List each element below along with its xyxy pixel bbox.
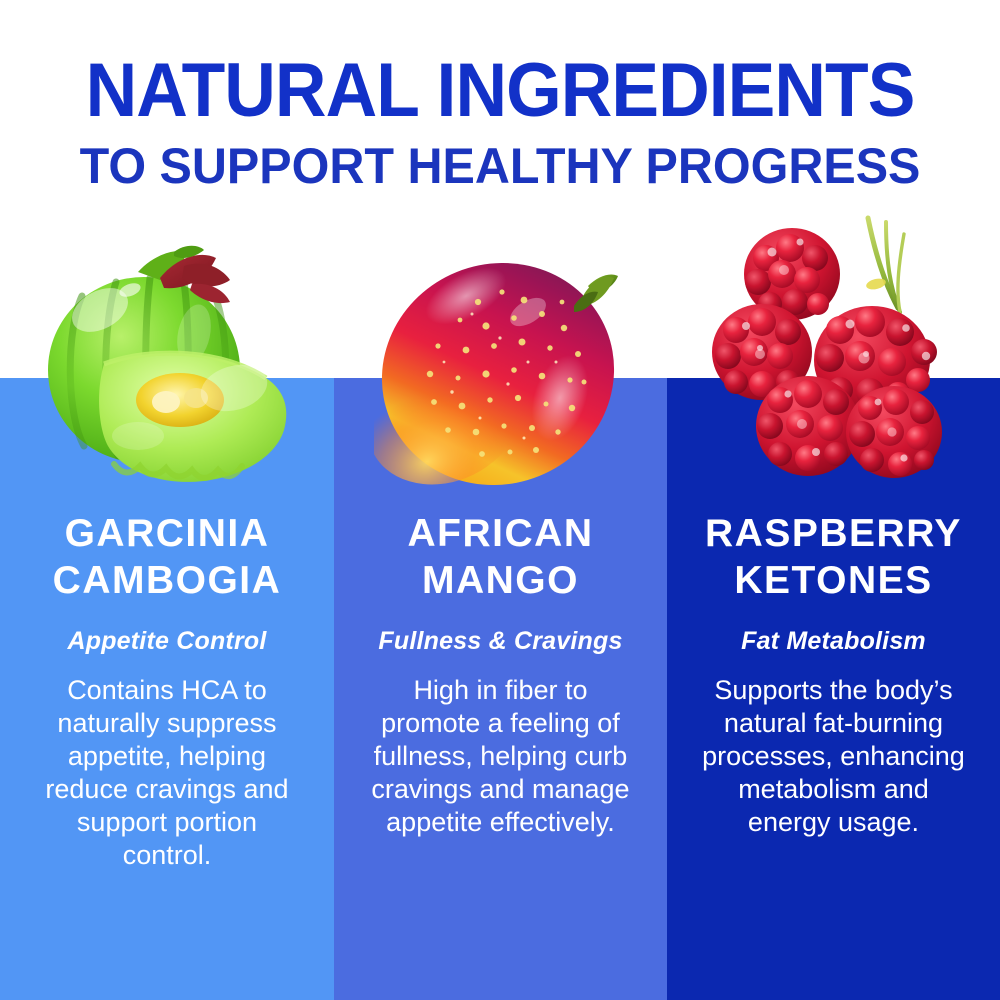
- page-title: NATURAL INGREDIENTS: [30, 0, 970, 128]
- infographic-canvas: NATURAL INGREDIENTS TO SUPPORT HEALTHY P…: [0, 0, 1000, 1000]
- ingredient-description: High in fiber to promote a feeling of fu…: [371, 674, 631, 839]
- ingredient-title: GARCINIA CAMBOGIA: [13, 510, 320, 604]
- page-subtitle: TO SUPPORT HEALTHY PROGRESS: [15, 128, 985, 192]
- ingredient-description: Contains HCA to naturally suppress appet…: [37, 674, 298, 872]
- ingredient-title: AFRICAN MANGO: [347, 510, 653, 604]
- column-text-block: AFRICAN MANGO Fullness & Cravings High i…: [334, 378, 667, 839]
- ingredient-columns: GARCINIA CAMBOGIA Appetite Control Conta…: [0, 378, 1000, 1000]
- column-text-block: RASPBERRY KETONES Fat Metabolism Support…: [667, 378, 1000, 839]
- ingredient-column-garcinia-cambogia: GARCINIA CAMBOGIA Appetite Control Conta…: [0, 378, 334, 1000]
- ingredient-title: RASPBERRY KETONES: [680, 510, 986, 604]
- ingredient-benefit-label: Fat Metabolism: [677, 626, 990, 656]
- header: NATURAL INGREDIENTS TO SUPPORT HEALTHY P…: [0, 0, 1000, 200]
- ingredient-benefit-label: Appetite Control: [10, 626, 324, 656]
- ingredient-column-raspberry-ketones: RASPBERRY KETONES Fat Metabolism Support…: [667, 378, 1000, 1000]
- ingredient-description: Supports the body’s natural fat-burning …: [697, 674, 970, 839]
- ingredient-benefit-label: Fullness & Cravings: [344, 626, 657, 656]
- ingredient-column-african-mango: AFRICAN MANGO Fullness & Cravings High i…: [334, 378, 667, 1000]
- column-text-block: GARCINIA CAMBOGIA Appetite Control Conta…: [0, 378, 334, 872]
- raspberry-top-left: [744, 228, 840, 320]
